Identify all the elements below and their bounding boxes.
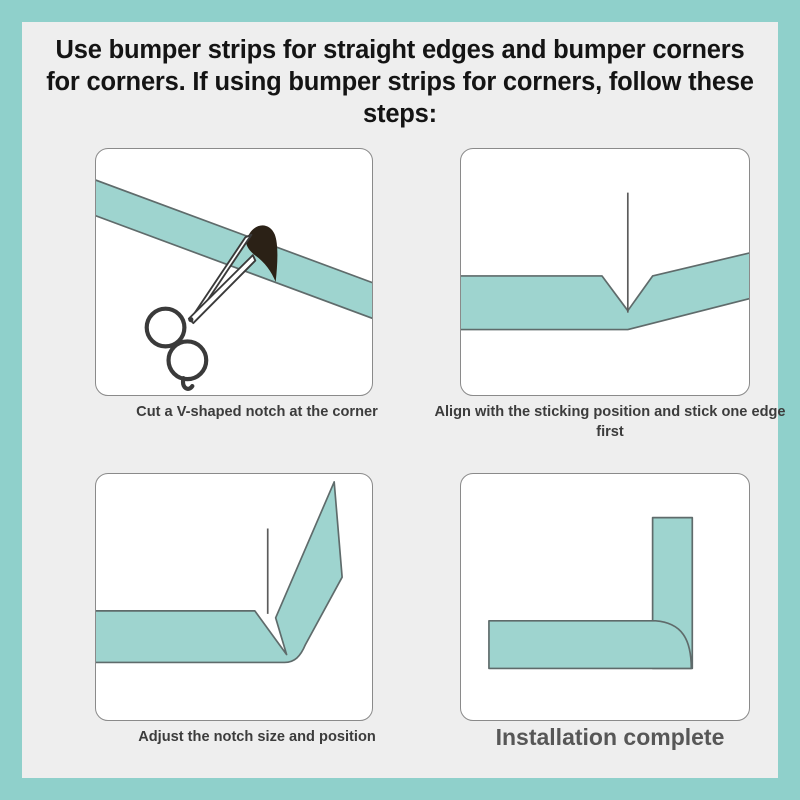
step-3-caption: Adjust the notch size and position	[77, 727, 437, 747]
step-4-illustration	[460, 473, 750, 721]
scissors-rings	[147, 309, 207, 389]
steps-grid: Cut a V-shaped notch at the corner	[22, 140, 778, 776]
teal-border-frame: Use bumper strips for straight edges and…	[0, 0, 800, 800]
horizontal-bumper-arm	[489, 621, 691, 669]
notched-bumper-strip	[461, 252, 749, 329]
scissors-pivot	[188, 317, 193, 322]
step-3-illustration	[95, 473, 373, 721]
diagonal-bumper-strip	[96, 179, 372, 320]
page-title: Use bumper strips for straight edges and…	[40, 34, 760, 130]
content-sheet: Use bumper strips for straight edges and…	[22, 22, 778, 778]
step-1-caption: Cut a V-shaped notch at the corner	[77, 402, 437, 422]
step-card-1: Cut a V-shaped notch at the corner	[77, 140, 437, 458]
step-2-illustration	[460, 148, 750, 396]
step-card-4: Installation complete	[430, 465, 790, 783]
step-1-illustration	[95, 148, 373, 396]
bent-bumper-strip	[96, 482, 342, 663]
step-card-3: Adjust the notch size and position	[77, 465, 437, 783]
step-card-2: Align with the sticking position and sti…	[430, 140, 790, 458]
step-2-caption: Align with the sticking position and sti…	[430, 402, 790, 442]
step-4-caption: Installation complete	[430, 723, 790, 751]
